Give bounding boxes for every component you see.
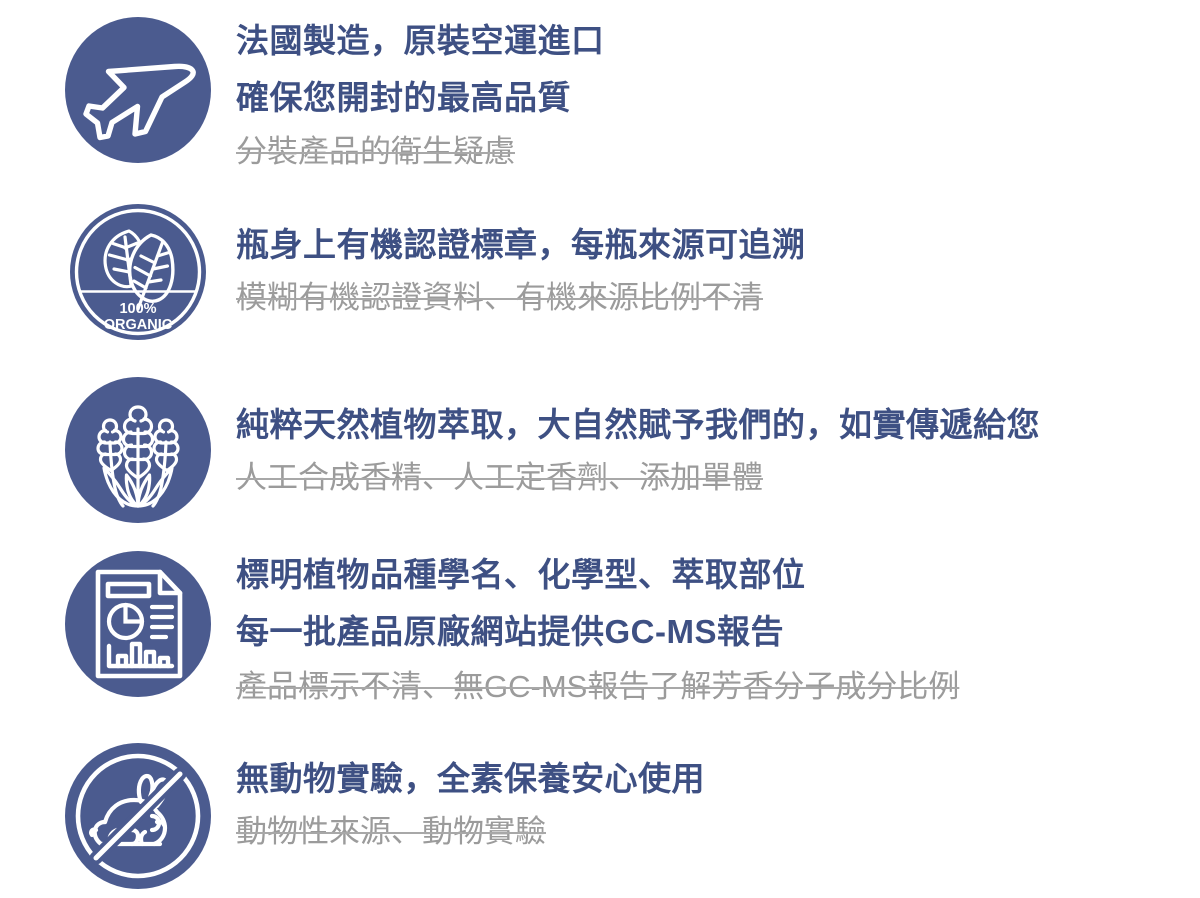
feature-strikethrough-line: 動物性來源、動物實驗 — [236, 806, 705, 858]
organic-badge-icon-svg: 100% ORGANIC — [62, 196, 214, 348]
no-animal-testing-icon — [62, 740, 214, 892]
feature-text-natural-plant-extract: 純粹天然植物萃取，大自然賦予我們的，如實傳遞給您 人工合成香精、人工定香劑、添加… — [236, 398, 1040, 504]
lavender-icon-svg — [62, 374, 214, 526]
feature-text-cruelty-free: 無動物實驗，全素保養安心使用 動物性來源、動物實驗 — [236, 752, 705, 858]
feature-text-made-in-france: 法國製造，原裝空運進口 確保您開封的最高品質 分裝產品的衛生疑慮 — [236, 12, 605, 178]
feature-title-line: 純粹天然植物萃取，大自然賦予我們的，如實傳遞給您 — [236, 398, 1040, 452]
feature-text-organic-certified: 瓶身上有機認證標章，每瓶來源可追溯 模糊有機認證資料、有機來源比例不清 — [236, 218, 806, 324]
feature-strikethrough-line: 模糊有機認證資料、有機來源比例不清 — [236, 272, 806, 324]
feature-text-gcms-report: 標明植物品種學名、化學型、萃取部位 每一批產品原廠網站提供GC-MS報告 產品標… — [236, 546, 959, 714]
feature-strikethrough-line: 分裝產品的衛生疑慮 — [236, 126, 605, 178]
feature-title-line: 法國製造，原裝空運進口 — [236, 12, 605, 69]
report-document-icon-svg — [62, 548, 214, 700]
feature-strikethrough-line: 產品標示不清、無GC-MS報告了解芳香分子成分比例 — [236, 660, 959, 714]
no-animal-testing-icon-svg — [62, 740, 214, 892]
airplane-icon — [62, 14, 214, 166]
lavender-icon — [62, 374, 214, 526]
organic-word-label: ORGANIC — [104, 317, 173, 333]
feature-title-line: 無動物實驗，全素保養安心使用 — [236, 752, 705, 806]
airplane-icon-svg — [62, 14, 214, 166]
feature-title-line: 瓶身上有機認證標章，每瓶來源可追溯 — [236, 218, 806, 272]
feature-title-line: 確保您開封的最高品質 — [236, 69, 605, 126]
feature-title-line: 標明植物品種學名、化學型、萃取部位 — [236, 546, 959, 603]
feature-title-line: 每一批產品原廠網站提供GC-MS報告 — [236, 603, 959, 660]
organic-badge-icon: 100% ORGANIC — [62, 196, 214, 348]
organic-percent-label: 100% — [119, 301, 156, 317]
feature-list: 法國製造，原裝空運進口 確保您開封的最高品質 分裝產品的衛生疑慮 — [0, 0, 1200, 898]
report-document-icon — [62, 548, 214, 700]
feature-strikethrough-line: 人工合成香精、人工定香劑、添加單體 — [236, 452, 1040, 504]
